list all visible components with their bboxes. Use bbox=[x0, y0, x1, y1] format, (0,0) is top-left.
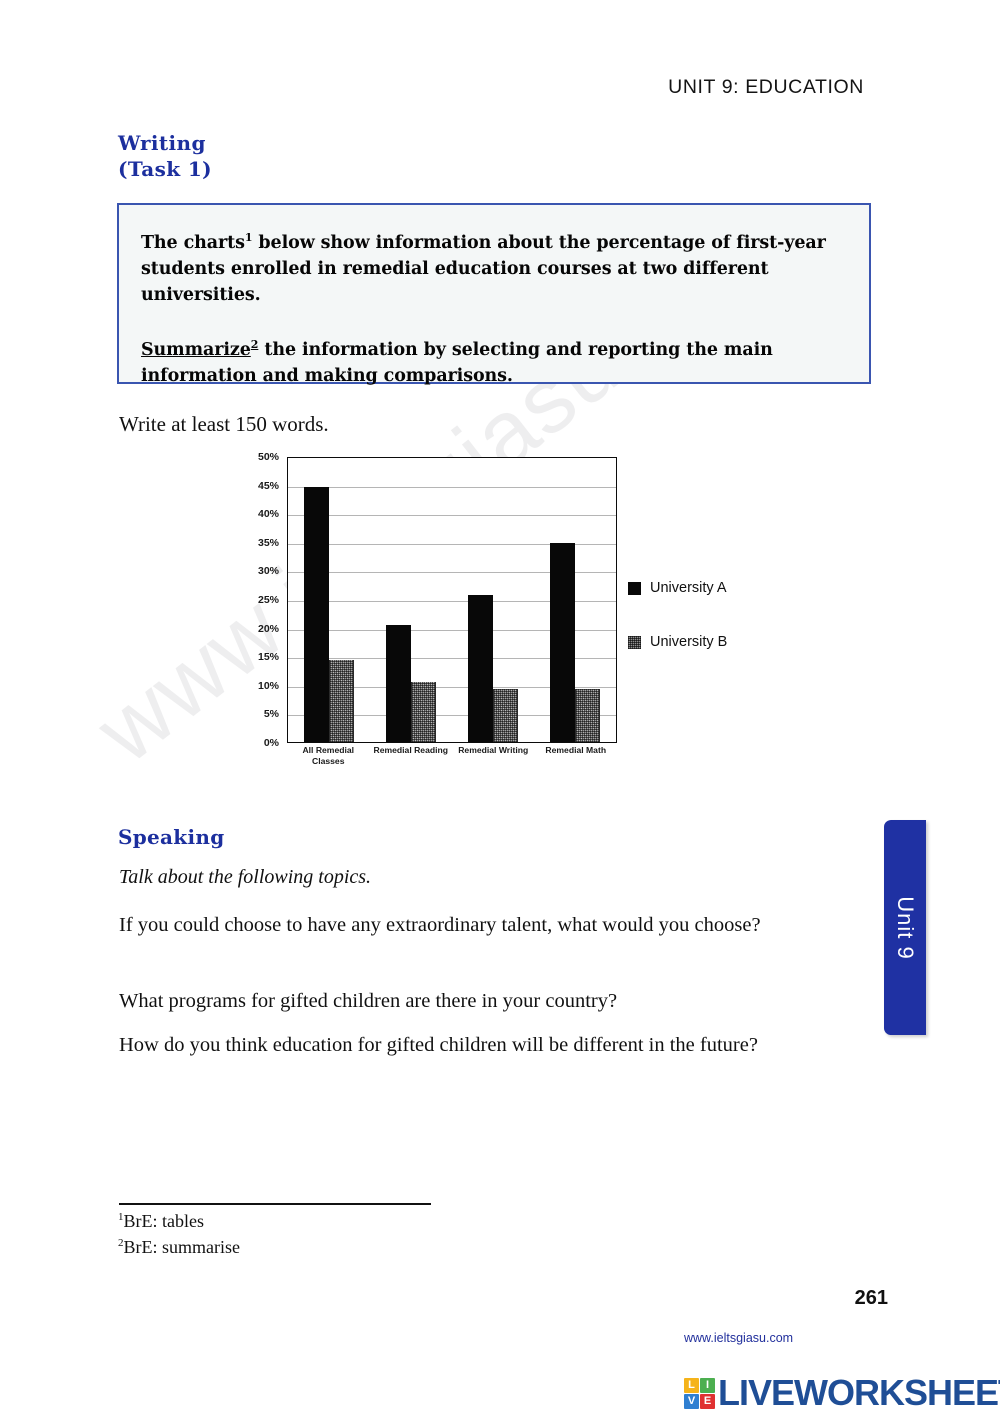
legend-swatch-icon bbox=[628, 636, 641, 649]
task-prompt-box: The charts1 below show information about… bbox=[117, 203, 871, 384]
speaking-topic: If you could choose to have any extraord… bbox=[119, 911, 819, 939]
bar-university-a bbox=[468, 595, 493, 742]
x-axis-tick-label: Remedial Writing bbox=[454, 745, 532, 767]
legend-item: University A bbox=[628, 578, 727, 598]
y-axis-tick-label: 40% bbox=[258, 508, 279, 520]
bar-university-b bbox=[493, 689, 518, 742]
bar-group bbox=[468, 458, 518, 742]
legend-item: University B bbox=[628, 632, 727, 652]
footnote-text: BrE: summarise bbox=[124, 1237, 240, 1257]
word-count-instruction: Write at least 150 words. bbox=[119, 412, 329, 437]
y-axis-tick-label: 0% bbox=[264, 737, 279, 749]
logo-block-i: I bbox=[700, 1378, 715, 1393]
chart-y-axis: 50%45%40%35%30%25%20%15%10%5%0% bbox=[243, 453, 283, 743]
speaking-topic: How do you think education for gifted ch… bbox=[119, 1031, 819, 1059]
y-axis-tick-label: 15% bbox=[258, 651, 279, 663]
task-p2-summarize-word: Summarize bbox=[141, 340, 251, 360]
x-axis-tick-label: All RemedialClasses bbox=[289, 745, 367, 767]
unit-header-title: UNIT 9: EDUCATION bbox=[668, 76, 864, 99]
bar-university-a bbox=[386, 625, 411, 742]
bar-group bbox=[550, 458, 600, 742]
y-axis-tick-label: 20% bbox=[258, 623, 279, 635]
logo-block-e: E bbox=[700, 1394, 715, 1409]
y-axis-tick-label: 35% bbox=[258, 537, 279, 549]
y-axis-tick-label: 30% bbox=[258, 565, 279, 577]
task-p1-text-a: The charts bbox=[141, 233, 245, 253]
writing-section-heading: Writing (Task 1) bbox=[118, 130, 212, 182]
footnote-item: 2BrE: summarise bbox=[118, 1237, 240, 1258]
liveworksheets-logo: LIVE LIVEWORKSHEETS bbox=[684, 1372, 1000, 1414]
speaking-section-heading: Speaking bbox=[118, 825, 225, 849]
bar-university-b bbox=[575, 689, 600, 742]
x-axis-tick-label: Remedial Math bbox=[537, 745, 615, 767]
legend-label: University B bbox=[650, 634, 727, 650]
task-paragraph-1: The charts1 below show information about… bbox=[141, 225, 847, 308]
bar-group bbox=[304, 458, 354, 742]
unit-side-tab: Unit 9 bbox=[884, 820, 926, 1035]
y-axis-tick-label: 45% bbox=[258, 480, 279, 492]
chart-bars bbox=[288, 458, 616, 742]
speaking-topic: What programs for gifted children are th… bbox=[119, 987, 819, 1015]
y-axis-tick-label: 5% bbox=[264, 708, 279, 720]
bar-university-a bbox=[550, 543, 575, 742]
x-axis-tick-label: Remedial Reading bbox=[372, 745, 450, 767]
y-axis-tick-label: 25% bbox=[258, 594, 279, 606]
bar-chart: 50%45%40%35%30%25%20%15%10%5%0% All Reme… bbox=[243, 453, 643, 773]
bar-group bbox=[386, 458, 436, 742]
unit-tab-label: Unit 9 bbox=[892, 896, 918, 959]
page-number: 261 bbox=[855, 1287, 888, 1310]
y-axis-tick-label: 10% bbox=[258, 680, 279, 692]
logo-wordmark: LIVEWORKSHEETS bbox=[718, 1372, 1000, 1414]
logo-block-v: V bbox=[684, 1394, 699, 1409]
writing-heading-line1: Writing bbox=[118, 130, 212, 156]
task-paragraph-2: Summarize2 the information by selecting … bbox=[141, 332, 847, 389]
writing-heading-line2: (Task 1) bbox=[118, 156, 212, 182]
y-axis-tick-label: 50% bbox=[258, 451, 279, 463]
logo-block-l: L bbox=[684, 1378, 699, 1393]
legend-swatch-icon bbox=[628, 582, 641, 595]
chart-x-axis: All RemedialClassesRemedial ReadingRemed… bbox=[287, 745, 617, 767]
chart-legend: University AUniversity B bbox=[628, 578, 727, 652]
speaking-intro-text: Talk about the following topics. bbox=[119, 866, 371, 889]
logo-letter-blocks: LIVE bbox=[684, 1378, 715, 1409]
legend-label: University A bbox=[650, 580, 727, 596]
bar-university-b bbox=[329, 660, 354, 742]
footnote-item: 1BrE: tables bbox=[118, 1211, 204, 1232]
bar-university-b bbox=[411, 682, 436, 742]
footnote-text: BrE: tables bbox=[124, 1211, 204, 1231]
chart-plot-area bbox=[287, 457, 617, 743]
site-link[interactable]: www.ieltsgiasu.com bbox=[684, 1331, 793, 1345]
footnote-separator bbox=[119, 1203, 431, 1205]
bar-university-a bbox=[304, 487, 329, 742]
